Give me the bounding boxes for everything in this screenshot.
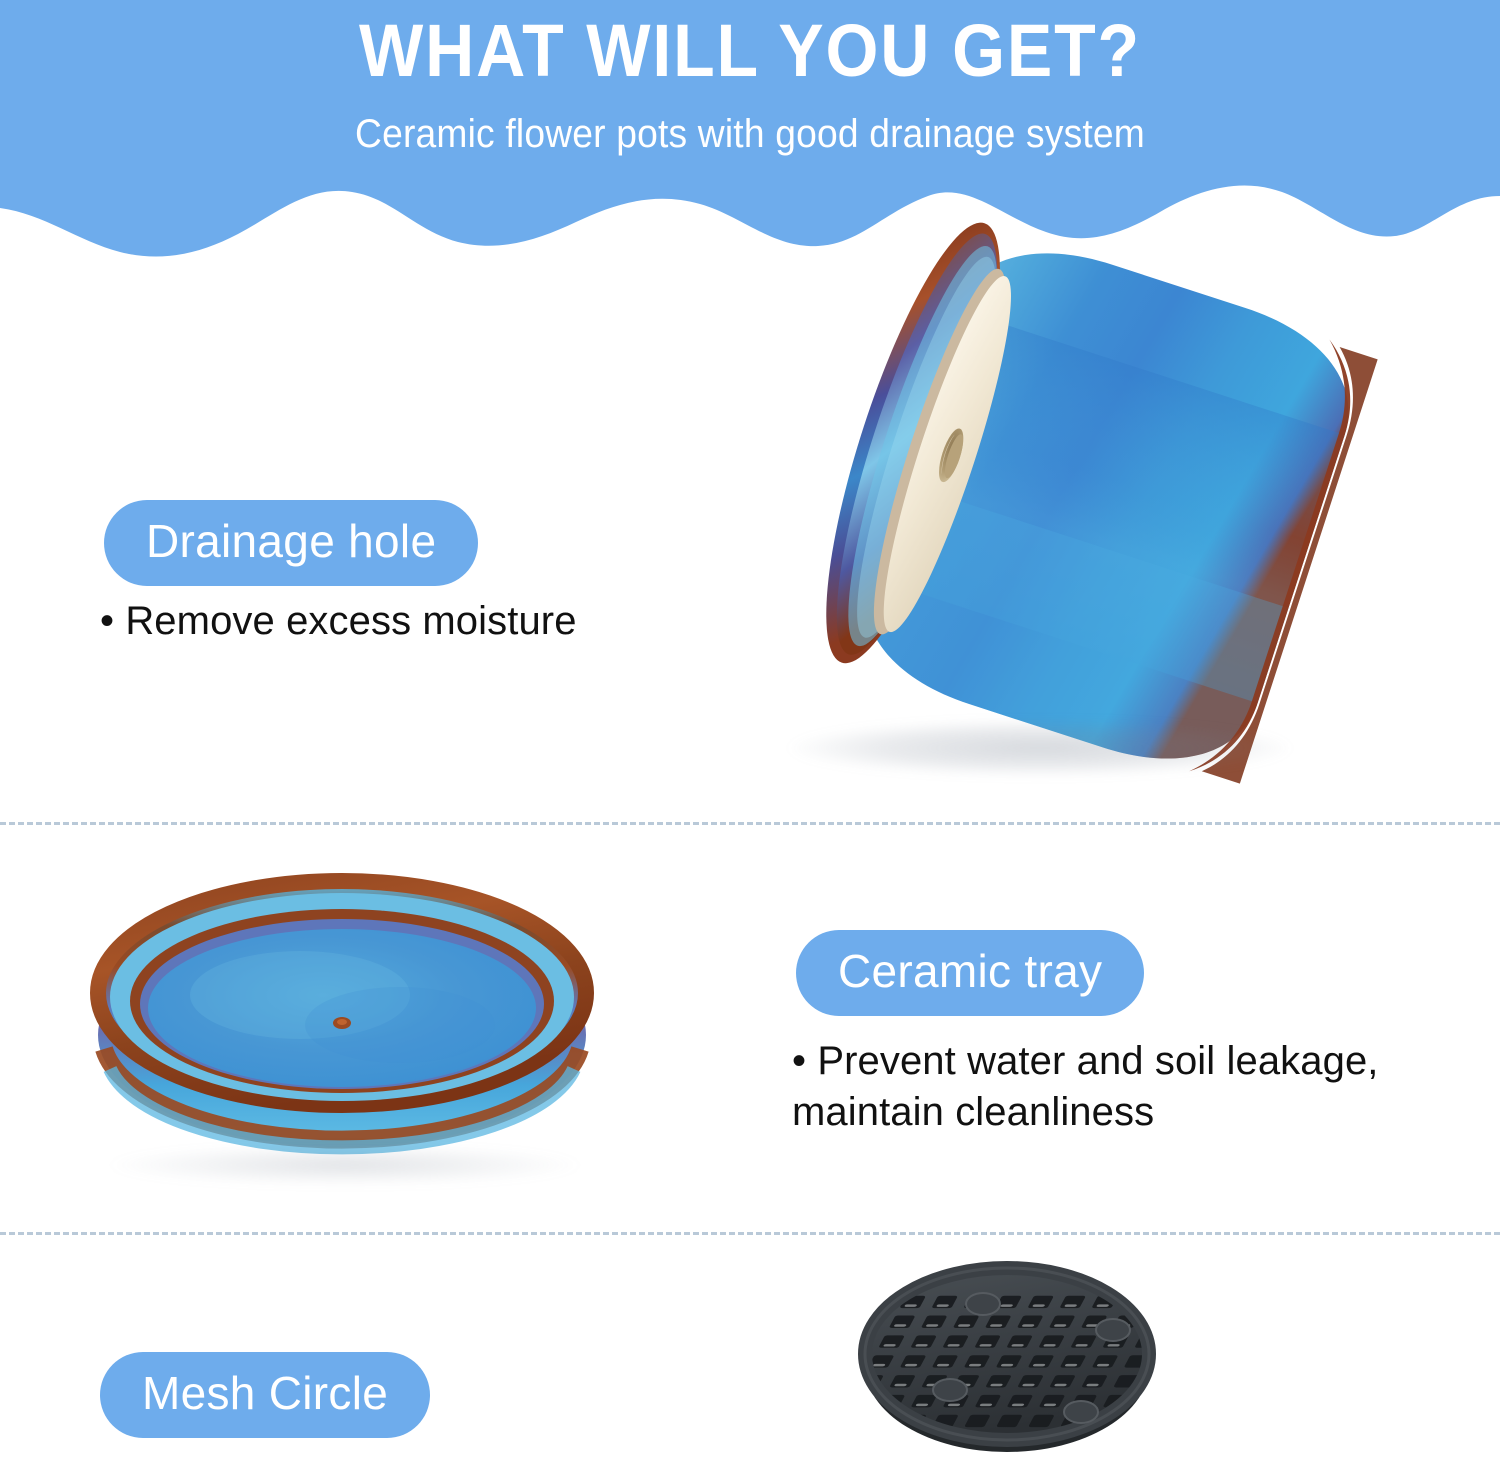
badge-ceramic-tray: Ceramic tray [796, 930, 1144, 1016]
bullet-ceramic-tray: • Prevent water and soil leakage, mainta… [792, 1036, 1452, 1138]
mesh-illustration [845, 1250, 1175, 1469]
tray-shadow [110, 1145, 580, 1185]
mesh-image [845, 1250, 1175, 1469]
page-subtitle: Ceramic flower pots with good drainage s… [53, 112, 1448, 157]
infographic-page: WHAT WILL YOU GET? Ceramic flower pots w… [0, 0, 1500, 1469]
badge-mesh-circle: Mesh Circle [100, 1352, 430, 1438]
section-divider-2 [0, 1232, 1500, 1235]
page-title: WHAT WILL YOU GET? [60, 14, 1440, 88]
bullet-tray-line1: • Prevent water and soil leakage, [792, 1039, 1379, 1083]
section-divider-1 [0, 822, 1500, 825]
bullet-drainage-hole: • Remove excess moisture [100, 596, 740, 647]
pot-image [700, 200, 1400, 820]
pot-shadow [790, 720, 1290, 776]
bullet-tray-line2: maintain cleanliness [792, 1090, 1154, 1134]
badge-drainage-hole: Drainage hole [104, 500, 478, 586]
tray-image [70, 845, 630, 1205]
